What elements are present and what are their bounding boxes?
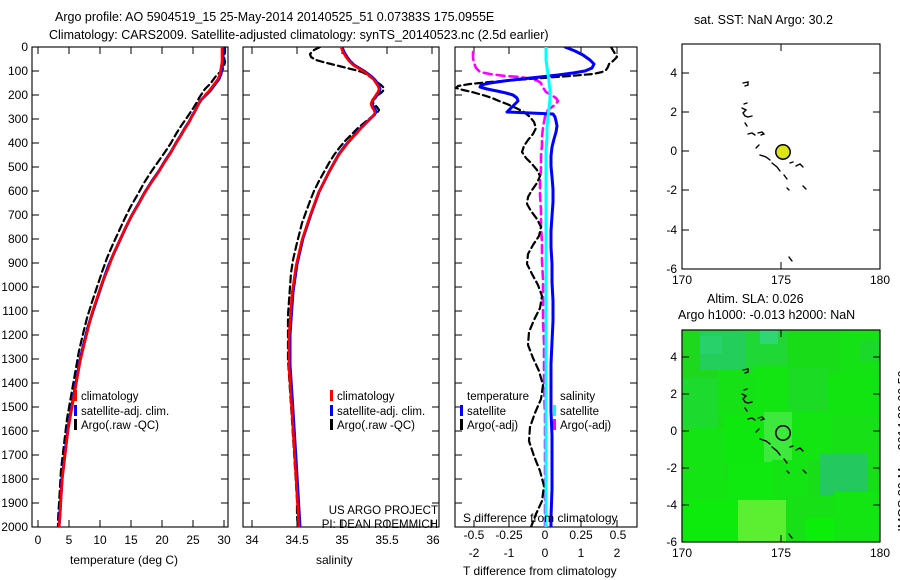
panel-salinity-xlabel: salinity <box>316 553 353 567</box>
legend-item-climatology: climatology <box>74 390 169 405</box>
legend-difference-col1: temperature satellite Argo(-adj) <box>460 390 529 434</box>
legend-swatch-salinity-satellite <box>553 405 556 416</box>
legend-item-salinity-argo-adj: Argo(-adj) <box>553 419 611 434</box>
plot-area <box>0 0 900 580</box>
map-sla-title-line2: Argo h1000: -0.013 h2000: NaN <box>678 308 855 322</box>
legend-item-salinity-header: salinity <box>553 390 611 405</box>
legend-item-satellite-adj-s: satellite-adj. clim. <box>330 405 425 420</box>
legend-swatch-argo-raw-s <box>330 419 333 430</box>
legend-swatch-satellite-adj-s <box>330 405 333 416</box>
legend-swatch-temperature-argo-adj <box>460 419 463 430</box>
legend-item-climatology-s: climatology <box>330 390 425 405</box>
legend-swatch-none-1 <box>460 390 463 401</box>
map-sst-marker <box>776 145 790 159</box>
legend-item-temperature-header: temperature <box>460 390 529 405</box>
legend-swatch-climatology <box>74 390 77 401</box>
credit-line1: US ARGO PROJECT <box>226 505 438 517</box>
plots-svg <box>0 0 900 580</box>
map-sla-title-line1: Altim. SLA: 0.026 <box>707 292 804 306</box>
legend-swatch-temperature-satellite <box>460 405 463 416</box>
legend-item-temperature-satellite: satellite <box>460 405 529 420</box>
panel-difference-xlabel-top: S difference from climatology <box>463 511 618 525</box>
legend-salinity: climatology satellite-adj. clim. Argo(.r… <box>330 390 425 434</box>
legend-item-salinity-satellite: satellite <box>553 405 611 420</box>
legend-item-satellite-adj: satellite-adj. clim. <box>74 405 169 420</box>
map-sla-field <box>682 330 880 542</box>
panel-difference-xlabel-bottom: T difference from climatology <box>463 564 617 578</box>
legend-item-temperature-argo-adj: Argo(-adj) <box>460 419 529 434</box>
legend-swatch-climatology-s <box>330 390 333 401</box>
map-sst-title: sat. SST: NaN Argo: 30.2 <box>694 13 833 27</box>
panel-temperature-xlabel: temperature (deg C) <box>70 553 178 567</box>
panel-salinity-axes <box>243 47 439 527</box>
panel-temperature-axes <box>32 47 228 527</box>
legend-item-argo-raw: Argo(.raw -QC) <box>74 419 169 434</box>
credit-line2: PI: DEAN ROEMMICH <box>226 519 438 531</box>
legend-temperature: climatology satellite-adj. clim. Argo(.r… <box>74 390 169 434</box>
legend-swatch-argo-raw <box>74 419 77 430</box>
legend-item-argo-raw-s: Argo(.raw -QC) <box>330 419 425 434</box>
legend-swatch-satellite-adj <box>74 405 77 416</box>
figure-canvas: Argo profile: AO 5904519_15 25-May-2014 … <box>0 0 900 580</box>
legend-swatch-none-2 <box>553 390 556 401</box>
imos-timestamp: :::IMOS 30-May-2014 20:00:50 <box>896 370 900 542</box>
legend-swatch-salinity-argo-adj <box>553 419 556 430</box>
map-sla-axes <box>682 330 880 542</box>
legend-difference-col2: salinity satellite Argo(-adj) <box>553 390 611 434</box>
